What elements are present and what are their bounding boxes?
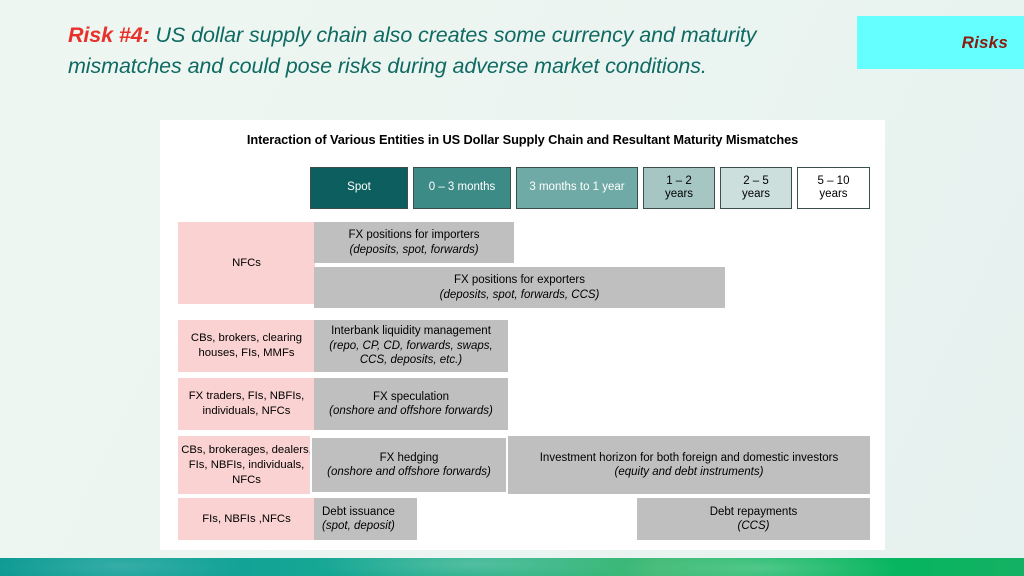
activity-title: Interbank liquidity management bbox=[331, 324, 491, 339]
entity-label: NFCs bbox=[232, 256, 261, 271]
headline-text: US dollar supply chain also creates some… bbox=[68, 23, 756, 78]
entity-cell-fx-traders: FX traders, FIs, NBFIs, individuals, NFC… bbox=[178, 378, 315, 430]
maturity-bucket-label: 1 – 2 years bbox=[665, 175, 693, 202]
activity-title: FX speculation bbox=[373, 390, 449, 405]
activity-title: Debt repayments bbox=[710, 505, 798, 520]
activity-bar-fx-positions-exporters: FX positions for exporters (deposits, sp… bbox=[314, 267, 725, 308]
activity-title: Investment horizon for both foreign and … bbox=[540, 451, 839, 466]
activity-title: Debt issuance bbox=[322, 505, 395, 520]
band-sheen bbox=[0, 558, 1024, 576]
maturity-bucket-label: 3 months to 1 year bbox=[529, 181, 624, 195]
activity-title: FX hedging bbox=[380, 451, 439, 466]
activity-bar-debt-issuance: Debt issuance (spot, deposit) bbox=[314, 498, 417, 540]
maturity-bucket-0-3-months[interactable]: 0 – 3 months bbox=[413, 167, 511, 209]
activity-sub: (repo, CP, CD, forwards, swaps, CCS, dep… bbox=[322, 339, 500, 368]
entity-cell-cbs-brokers: CBs, brokers, clearing houses, FIs, MMFs bbox=[178, 320, 315, 372]
entity-label: CBs, brokerages, dealers, FIs, NBFIs, in… bbox=[178, 443, 315, 488]
entity-cell-nfcs: NFCs bbox=[178, 222, 315, 304]
activity-sub: (CCS) bbox=[738, 519, 770, 534]
activity-title: FX positions for exporters bbox=[454, 273, 585, 288]
maturity-bucket-label: 5 – 10 years bbox=[818, 175, 850, 202]
page-title: Risk #4: US dollar supply chain also cre… bbox=[68, 20, 828, 82]
entity-label: CBs, brokers, clearing houses, FIs, MMFs bbox=[178, 331, 315, 361]
activity-sub: (deposits, spot, forwards) bbox=[349, 243, 478, 258]
activity-title: FX positions for importers bbox=[348, 228, 479, 243]
activity-bar-debt-repayments: Debt repayments (CCS) bbox=[637, 498, 870, 540]
activity-bar-fx-hedging: FX hedging (onshore and offshore forward… bbox=[310, 436, 508, 494]
activity-bar-fx-speculation: FX speculation (onshore and offshore for… bbox=[314, 378, 508, 430]
activity-sub: (equity and debt instruments) bbox=[615, 465, 764, 480]
maturity-bucket-label: 0 – 3 months bbox=[429, 181, 495, 195]
maturity-bucket-spot[interactable]: Spot bbox=[310, 167, 408, 209]
entity-label: FIs, NBFIs ,NFCs bbox=[202, 512, 291, 527]
maturity-bucket-label: 2 – 5 years bbox=[742, 175, 770, 202]
activity-sub: (onshore and offshore forwards) bbox=[327, 465, 491, 480]
activity-bar-fx-positions-importers: FX positions for importers (deposits, sp… bbox=[314, 222, 514, 263]
risk-number-tag: Risk #4: bbox=[68, 23, 150, 47]
entity-label: FX traders, FIs, NBFIs, individuals, NFC… bbox=[178, 389, 315, 419]
chart-card: Interaction of Various Entities in US Do… bbox=[160, 120, 885, 550]
risks-badge: Risks bbox=[857, 16, 1024, 69]
activity-sub: (onshore and offshore forwards) bbox=[329, 404, 493, 419]
decorative-bottom-band bbox=[0, 558, 1024, 576]
activity-bar-investment-horizon: Investment horizon for both foreign and … bbox=[508, 436, 870, 494]
maturity-bucket-1-2-years[interactable]: 1 – 2 years bbox=[643, 167, 715, 209]
maturity-bucket-5-10-years[interactable]: 5 – 10 years bbox=[797, 167, 870, 209]
activity-sub: (spot, deposit) bbox=[322, 519, 395, 534]
maturity-bucket-label: Spot bbox=[347, 181, 371, 195]
maturity-bucket-2-5-years[interactable]: 2 – 5 years bbox=[720, 167, 792, 209]
entity-cell-cbs-brokerages: CBs, brokerages, dealers, FIs, NBFIs, in… bbox=[178, 436, 315, 494]
risks-badge-label: Risks bbox=[962, 33, 1024, 53]
entity-cell-fis-nbfis: FIs, NBFIs ,NFCs bbox=[178, 498, 315, 540]
activity-bar-interbank-liquidity: Interbank liquidity management (repo, CP… bbox=[314, 320, 508, 372]
maturity-matrix: Spot 0 – 3 months 3 months to 1 year 1 –… bbox=[160, 120, 885, 550]
activity-sub: (deposits, spot, forwards, CCS) bbox=[440, 288, 600, 303]
maturity-bucket-3-months-1-year[interactable]: 3 months to 1 year bbox=[516, 167, 638, 209]
